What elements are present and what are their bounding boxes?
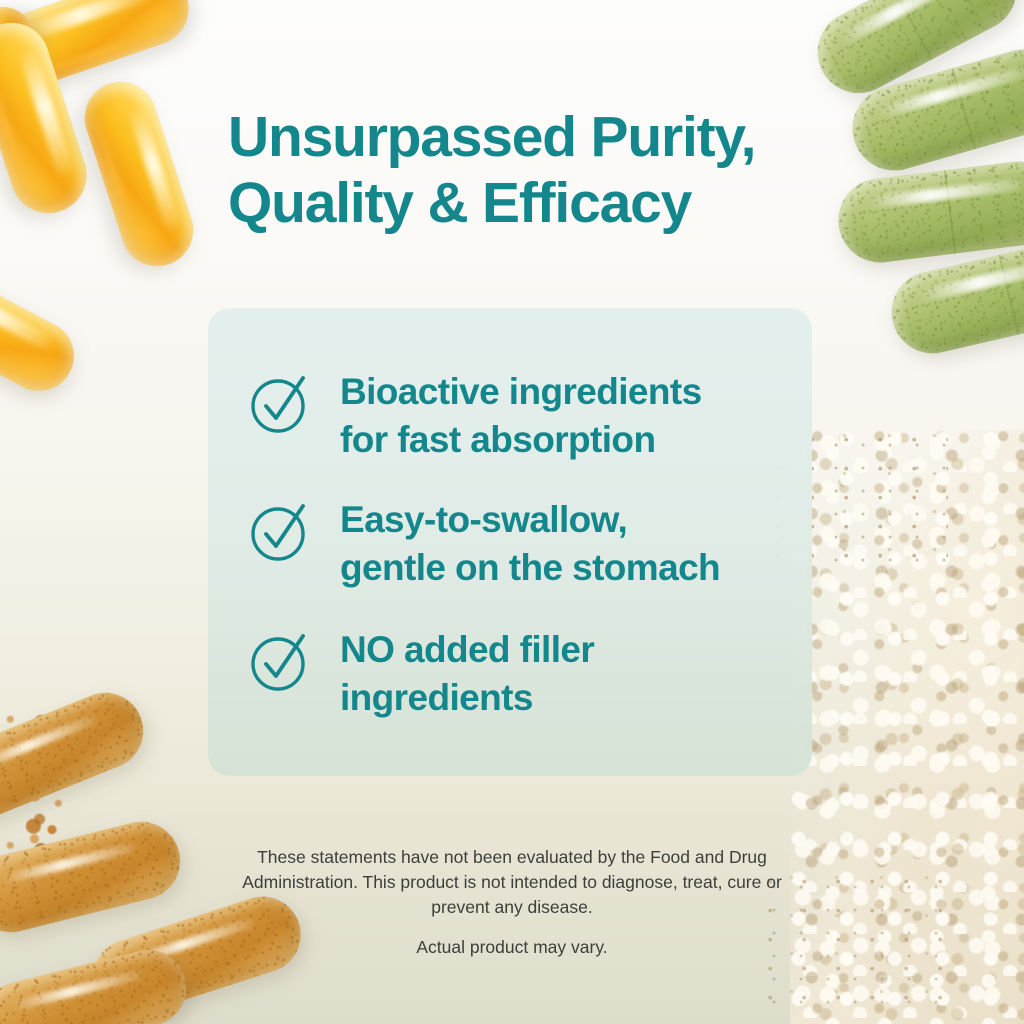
benefit-item: Bioactive ingredients for fast absorptio…	[248, 366, 702, 464]
softgel-capsule	[0, 259, 86, 403]
powder-grain-texture	[843, 40, 1024, 181]
benefit-item: Easy-to-swallow, gentle on the stomach	[248, 494, 720, 592]
capsule-rim-light	[19, 24, 173, 84]
capsule-highlight	[19, 48, 75, 176]
capsule-highlight	[917, 256, 1024, 302]
herbal-capsule	[803, 0, 1024, 107]
capsule-joint-band	[892, 0, 932, 60]
actual-product-note: Actual product may vary.	[212, 935, 812, 960]
benefit-label: Easy-to-swallow, gentle on the stomach	[340, 494, 720, 592]
capsule-rim-light	[0, 314, 42, 387]
capsule-highlight	[0, 15, 6, 79]
herbal-capsule	[884, 233, 1024, 362]
check-circle-icon	[248, 370, 314, 436]
capsule-highlight	[0, 714, 98, 773]
softgel-capsule	[0, 0, 199, 97]
page-title: Unsurpassed Purity, Quality & Efficacy	[228, 104, 868, 236]
capsule-highlight	[837, 0, 975, 46]
turmeric-capsule	[0, 942, 194, 1024]
check-circle-icon	[248, 628, 314, 694]
promo-graphic: Unsurpassed Purity, Quality & Efficacy B…	[0, 0, 1024, 1024]
capsule-joint-band	[944, 170, 956, 254]
capsule-highlight	[877, 65, 1024, 119]
capsule-highlight	[1, 842, 135, 885]
capsule-highlight	[867, 178, 1023, 209]
powder-grain-texture	[884, 233, 1024, 362]
powder-grain-texture	[0, 681, 155, 830]
capsule-joint-band	[998, 255, 1018, 335]
benefit-item: NO added filler ingredients	[248, 624, 594, 722]
powder-mound	[790, 430, 1024, 1024]
softgel-capsule	[0, 13, 96, 223]
benefits-panel: Bioactive ingredients for fast absorptio…	[208, 308, 812, 776]
softgel-capsule	[0, 0, 49, 123]
check-circle-icon	[248, 498, 314, 564]
capsule-rim-light	[0, 46, 33, 198]
powder-clump-texture	[790, 430, 1024, 1024]
powder-grain-texture	[0, 942, 194, 1024]
capsule-rim-light	[88, 104, 142, 251]
capsule-highlight	[21, 0, 151, 42]
benefit-label: Bioactive ingredients for fast absorptio…	[340, 366, 702, 464]
turmeric-capsule	[0, 681, 155, 830]
spilled-turmeric-powder	[0, 710, 70, 900]
powder-grain-texture	[803, 0, 1024, 107]
capsule-joint-band	[952, 68, 977, 149]
benefit-label: NO added filler ingredients	[340, 624, 594, 722]
powder-grain-texture	[0, 814, 188, 941]
capsule-highlight	[11, 970, 143, 1012]
herbal-capsule	[843, 40, 1024, 181]
capsule-highlight	[0, 283, 54, 351]
capsule-highlight	[128, 107, 182, 231]
softgel-capsule	[75, 73, 202, 276]
turmeric-capsule	[0, 814, 188, 941]
fda-disclaimer: These statements have not been evaluated…	[212, 845, 812, 920]
